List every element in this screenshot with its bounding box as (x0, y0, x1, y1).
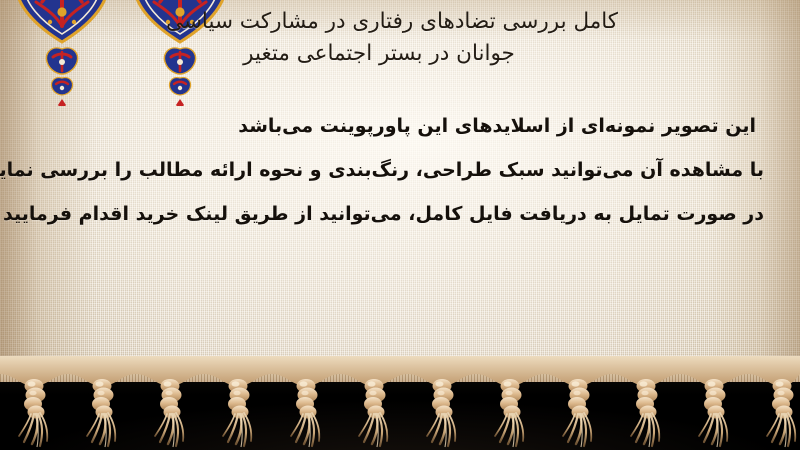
tassel (359, 379, 387, 447)
tassel (19, 379, 47, 447)
fringe-tassels-icon (0, 356, 800, 450)
slide-title-line-2: جوانان در بستر اجتماعی متغیر (22, 38, 776, 70)
slide-title: کامل بررسی تضادهای رفتاری در مشارکت سیاس… (0, 6, 800, 70)
slide-body: این تصویر نمونه‌ای از اسلایدهای این پاور… (24, 104, 764, 236)
tassel (87, 379, 115, 447)
tassel (767, 379, 795, 447)
tassel (495, 379, 523, 447)
presentation-slide: کامل بررسی تضادهای رفتاری در مشارکت سیاس… (0, 0, 800, 450)
tassel (631, 379, 659, 447)
tassel (291, 379, 319, 447)
body-line-1: این تصویر نمونه‌ای از اسلایدهای این پاور… (24, 104, 764, 148)
body-line-3: در صورت تمایل به دریافت فایل کامل، می‌تو… (24, 192, 764, 236)
slide-title-line-1: کامل بررسی تضادهای رفتاری در مشارکت سیاس… (22, 6, 776, 38)
tassel (427, 379, 455, 447)
tassel (699, 379, 727, 447)
tassel (563, 379, 591, 447)
tassel (155, 379, 183, 447)
slide-text-layer: کامل بررسی تضادهای رفتاری در مشارکت سیاس… (0, 0, 800, 372)
body-line-2: با مشاهده آن می‌توانید سبک طراحی، رنگ‌بن… (24, 148, 764, 192)
carpet-fringe-band (0, 356, 800, 450)
tassel (223, 379, 251, 447)
fringe-scallop-edge (0, 356, 800, 386)
